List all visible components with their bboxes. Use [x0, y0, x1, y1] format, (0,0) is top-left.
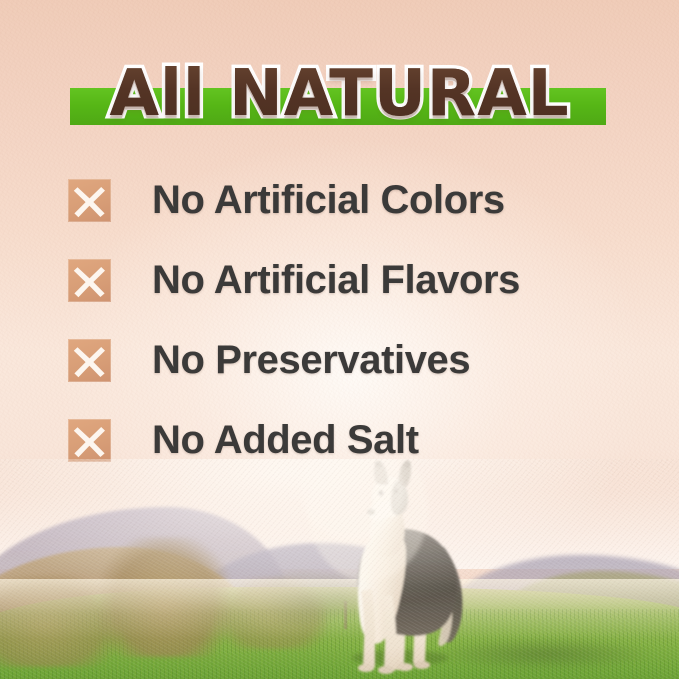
- list-item: No Artificial Flavors: [0, 240, 679, 320]
- dog-illustration: [0, 459, 679, 679]
- page-title: All NATURAL: [0, 48, 679, 140]
- list-item: No Artificial Colors: [0, 160, 679, 240]
- x-mark-icon: [68, 179, 111, 222]
- list-item-label: No Artificial Colors: [152, 179, 505, 222]
- list-item-label: No Preservatives: [152, 339, 470, 382]
- x-mark-icon: [68, 339, 111, 382]
- hero-photo: [0, 459, 679, 679]
- x-mark-icon: [68, 419, 111, 462]
- product-feature-graphic: All NATURAL All NATURAL No Artificial Co…: [0, 0, 679, 679]
- x-mark-icon: [68, 259, 111, 302]
- list-item: No Preservatives: [0, 320, 679, 400]
- list-item-label: No Added Salt: [152, 419, 419, 462]
- banner: All NATURAL All NATURAL: [0, 48, 679, 140]
- benefits-list: No Artificial Colors No Artificial Flavo…: [0, 160, 679, 480]
- list-item-label: No Artificial Flavors: [152, 259, 520, 302]
